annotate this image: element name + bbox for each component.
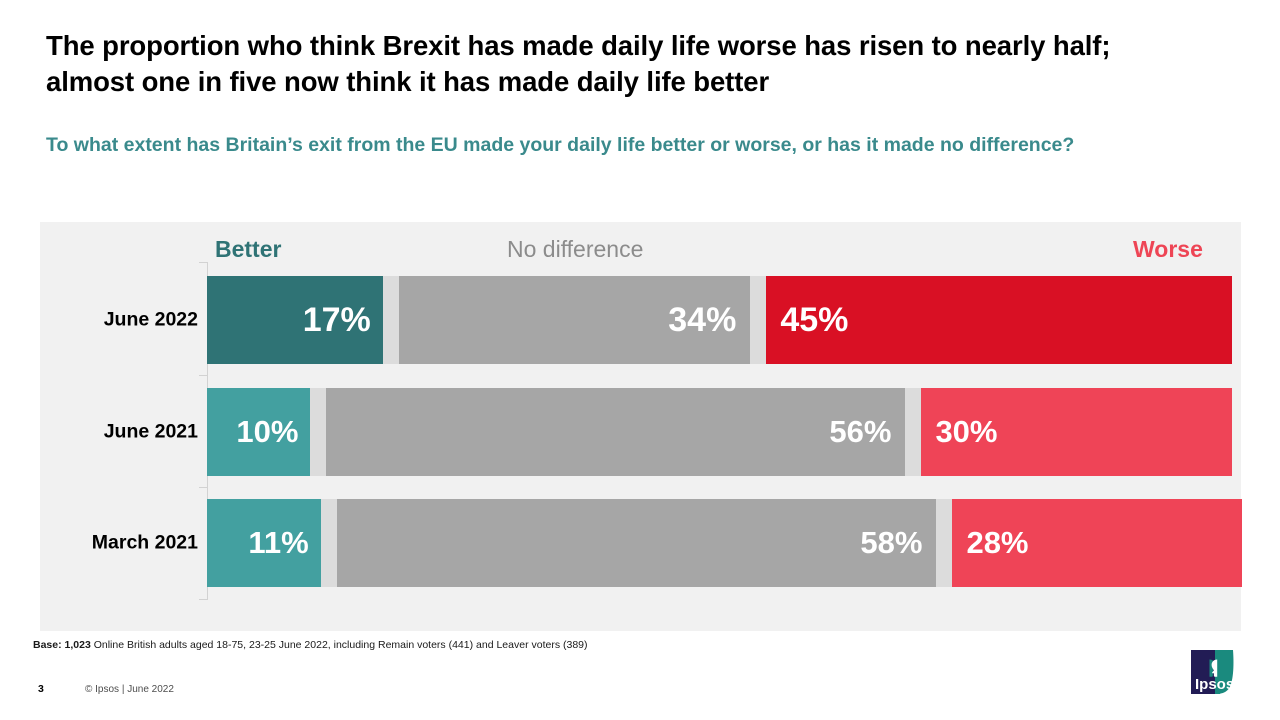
- bar-value-label: 17%: [303, 301, 371, 340]
- legend-item-better: Better: [215, 236, 281, 263]
- copyright-notice: © Ipsos | June 2022: [85, 684, 174, 695]
- bar-segment-gap: [310, 388, 326, 476]
- row-label-june-2022: June 2022: [104, 309, 198, 332]
- bar-segment-gap: [905, 388, 921, 476]
- ipsos-logo: Ipsos: [1189, 648, 1241, 698]
- bar-value-label: 30%: [935, 414, 997, 450]
- footnote-detail: Online British adults aged 18-75, 23-25 …: [91, 639, 588, 651]
- bar-segment-gap: [321, 499, 337, 587]
- bar-segment-better: 10%: [207, 388, 310, 476]
- chart-row: March 2021 11%58%28%: [0, 499, 1280, 587]
- chart-row: June 2021 10%56%30%: [0, 388, 1280, 476]
- bar-segment-better: 17%: [207, 276, 383, 364]
- bar-segment-no-difference: 58%: [337, 499, 937, 587]
- ipsos-wordmark: Ipsos: [1195, 676, 1234, 693]
- bar-value-label: 34%: [668, 301, 736, 340]
- row-label-june-2021: June 2021: [104, 421, 198, 444]
- bar-segment-worse: 30%: [921, 388, 1231, 476]
- bar-value-label: 11%: [248, 525, 308, 561]
- bar-segment-gap: [383, 276, 399, 364]
- chart-row: June 2022 17%34%45%: [0, 276, 1280, 364]
- bar-segment-no-difference: 34%: [399, 276, 751, 364]
- bar-value-label: 10%: [236, 414, 298, 450]
- chart-base-footnote: Base: 1,023 Online British adults aged 1…: [33, 639, 588, 651]
- bar-value-label: 58%: [860, 525, 922, 561]
- axis-tick: [199, 487, 207, 488]
- footnote-base-label: Base: 1,023: [33, 639, 91, 651]
- bar-segment-worse: 45%: [766, 276, 1231, 364]
- bar-segment-gap: [750, 276, 766, 364]
- bar-segment-no-difference: 56%: [326, 388, 905, 476]
- bar-value-label: 56%: [829, 414, 891, 450]
- bar-value-label: 45%: [780, 301, 848, 340]
- bar-value-label: 28%: [966, 525, 1028, 561]
- bar-segment-gap: [936, 499, 952, 587]
- legend-item-no-difference: No difference: [507, 236, 643, 263]
- survey-question-subtitle: To what extent has Britain’s exit from t…: [46, 131, 1106, 159]
- legend-item-worse: Worse: [1133, 236, 1203, 263]
- page-title: The proportion who think Brexit has made…: [46, 28, 1156, 100]
- axis-tick: [199, 262, 207, 263]
- axis-tick: [199, 375, 207, 376]
- row-label-march-2021: March 2021: [92, 532, 198, 555]
- axis-tick: [199, 599, 207, 600]
- bar-segment-worse: 28%: [952, 499, 1242, 587]
- slide-page-number: 3: [38, 683, 44, 695]
- bar-segment-better: 11%: [207, 499, 321, 587]
